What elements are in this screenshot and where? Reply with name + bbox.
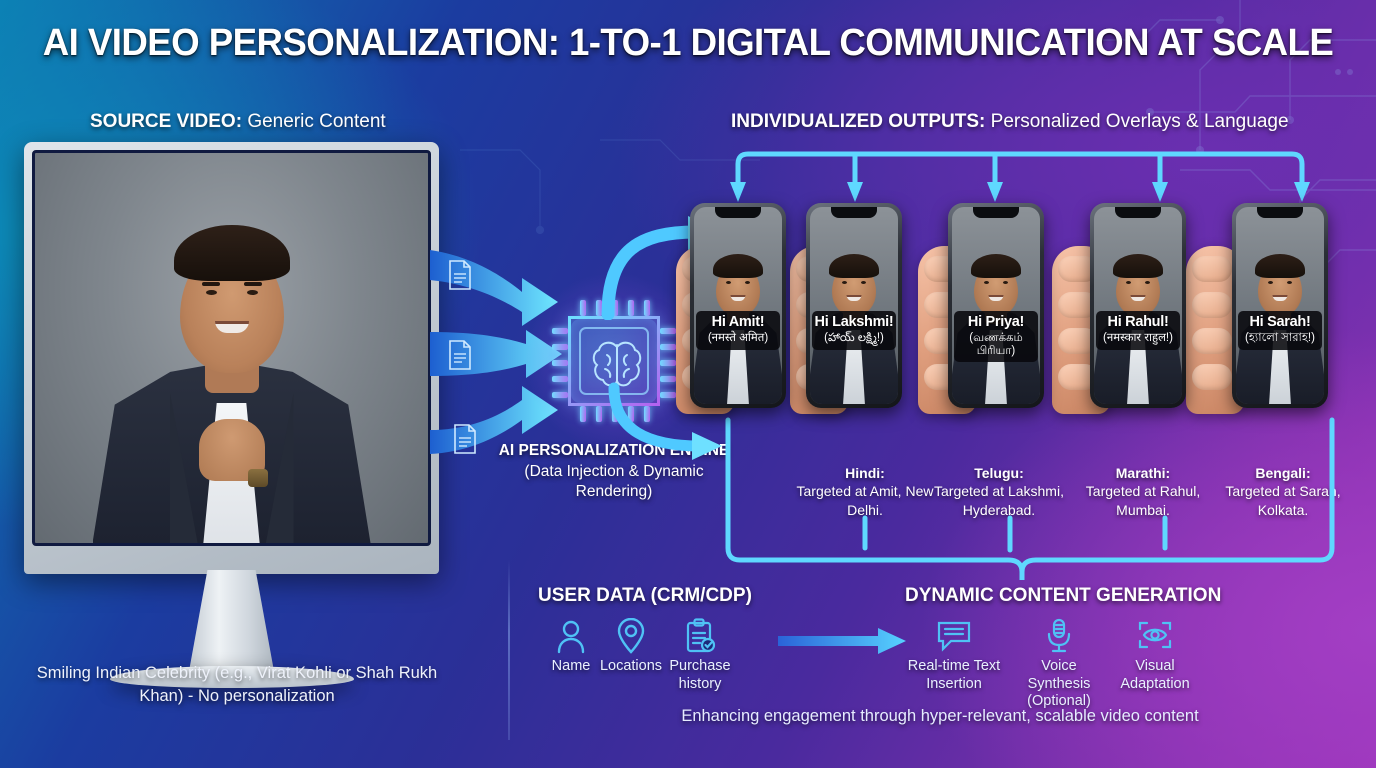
monitor-screen <box>32 150 431 546</box>
celebrity-portrait <box>87 213 377 543</box>
source-video-header: SOURCE VIDEO: Generic Content <box>90 111 386 133</box>
personalization-overlay: Hi Sarah! (হ্যালো সারাহ!) <box>1238 311 1322 350</box>
overlay-native-text: (नमस्कार राहुल!) <box>1098 332 1178 345</box>
output-phone[interactable]: Hi Priya! (வணக்கம் பிரியா) <box>948 203 1044 408</box>
dynamic-item-text-insertion: Real-time Text Insertion <box>906 618 1002 693</box>
output-phone[interactable]: Hi Amit! (नमस्ते अमित) <box>690 203 786 408</box>
overlay-native-text: (হ্যালো সারাহ!) <box>1240 332 1320 345</box>
document-icon <box>452 424 478 454</box>
source-caption: Smiling Indian Celebrity (e.g., Virat Ko… <box>14 662 460 709</box>
source-video-label: SOURCE VIDEO: <box>90 111 242 132</box>
personalization-overlay: Hi Rahul! (नमस्कार राहुल!) <box>1096 311 1180 350</box>
overlay-greeting: Hi Lakshmi! <box>814 315 894 331</box>
overlay-native-text: (नमस्ते अमित) <box>698 332 778 345</box>
personalization-overlay: Hi Lakshmi! (హాయ్ లక్ష్మి!) <box>812 311 896 350</box>
document-icon <box>447 260 473 290</box>
outputs-label: INDIVIDUALIZED OUTPUTS: <box>731 111 985 132</box>
overlay-greeting: Hi Sarah! <box>1240 315 1320 331</box>
document-icon <box>447 340 473 370</box>
outputs-value: Personalized Overlays & Language <box>991 111 1289 132</box>
overlay-native-text: (హాయ్ లక్ష్మి!) <box>814 332 894 345</box>
user-data-to-dynamic-arrow <box>778 628 906 654</box>
dynamic-item-visual-adaptation: Visual Adaptation <box>1107 618 1203 693</box>
dynamic-item-voice-synthesis: Voice Synthesis (Optional) <box>1011 618 1107 711</box>
monitor-bezel <box>24 142 439 574</box>
dynamic-label: Visual Adaptation <box>1120 658 1189 692</box>
source-video-value: Generic Content <box>247 111 385 132</box>
personalization-overlay: Hi Amit! (नमस्ते अमित) <box>696 311 780 350</box>
phone-notch <box>1115 207 1161 218</box>
outputs-distribution-arrows <box>690 148 1350 210</box>
footer-note: Enhancing engagement through hyper-relev… <box>520 707 1360 726</box>
infographic-canvas: AI VIDEO PERSONALIZATION: 1-TO-1 DIGITAL… <box>0 0 1376 768</box>
individualized-outputs-header: INDIVIDUALIZED OUTPUTS: Personalized Ove… <box>731 111 1289 133</box>
output-phone[interactable]: Hi Lakshmi! (హాయ్ లక్ష్మి!) <box>806 203 902 408</box>
microphone-icon <box>1011 618 1107 654</box>
phone-notch <box>715 207 761 218</box>
dynamic-label: Voice Synthesis (Optional) <box>1027 658 1091 709</box>
user-data-item-purchase-history: Purchase history <box>652 618 748 693</box>
overlay-native-text: (வணக்கம் பிரியா) <box>956 332 1036 358</box>
dynamic-content-title: DYNAMIC CONTENT GENERATION <box>905 585 1221 607</box>
clipboard-check-icon <box>652 618 748 654</box>
engine-detail: (Data Injection & Dynamic Rendering) <box>524 463 703 501</box>
overlay-greeting: Hi Priya! <box>956 315 1036 331</box>
eye-scan-icon <box>1107 618 1203 654</box>
speech-bubble-icon <box>906 618 1002 654</box>
dynamic-label: Real-time Text Insertion <box>908 658 1000 692</box>
phone-notch <box>831 207 877 218</box>
outputs-to-dynamic-brace <box>710 400 1350 580</box>
phone-notch <box>1257 207 1303 218</box>
user-data-title: USER DATA (CRM/CDP) <box>538 585 752 607</box>
output-phone[interactable]: Hi Rahul! (नमस्कार राहुल!) <box>1090 203 1186 408</box>
page-title: AI VIDEO PERSONALIZATION: 1-TO-1 DIGITAL… <box>24 22 1352 65</box>
personalization-overlay: Hi Priya! (வணக்கம் பிரியா) <box>954 311 1038 362</box>
source-video-monitor <box>24 142 439 642</box>
output-phone[interactable]: Hi Sarah! (হ্যালো সারাহ!) <box>1232 203 1328 408</box>
user-data-label: Purchase history <box>669 658 730 692</box>
phone-notch <box>973 207 1019 218</box>
section-divider <box>508 560 510 740</box>
monitor-stand-neck <box>189 570 275 674</box>
overlay-greeting: Hi Amit! <box>698 315 778 331</box>
overlay-greeting: Hi Rahul! <box>1098 315 1178 331</box>
